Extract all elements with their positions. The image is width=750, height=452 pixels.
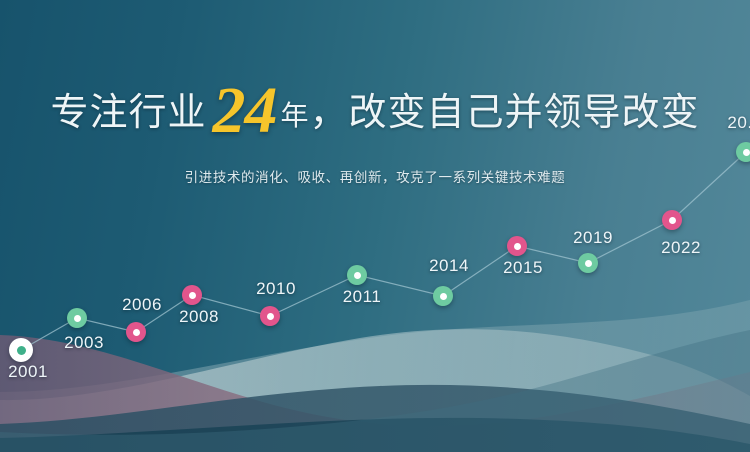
timeline-node-core — [17, 346, 26, 355]
timeline-node-2010[interactable] — [260, 306, 280, 326]
timeline-node-core — [585, 260, 592, 267]
headline: 专注行业24年，改变自己并领导改变 — [50, 78, 699, 132]
timeline-node-core — [440, 293, 447, 300]
timeline-label-2014: 2014 — [429, 256, 469, 276]
timeline-label-2010: 2010 — [256, 279, 296, 299]
timeline-node-core — [74, 315, 81, 322]
subtitle: 引进技术的消化、吸收、再创新，攻克了一系列关键技术难题 — [0, 166, 750, 186]
timeline-label-2006: 2006 — [122, 295, 162, 315]
timeline-label-2003: 2003 — [64, 333, 104, 353]
timeline-label-2001: 2001 — [8, 362, 48, 382]
timeline-node-2022[interactable] — [662, 210, 682, 230]
timeline-node-core — [267, 313, 274, 320]
timeline-node-2003[interactable] — [67, 308, 87, 328]
headline-unit: 年 — [280, 100, 309, 131]
timeline-node-core — [189, 292, 196, 299]
timeline-label-2015: 2015 — [503, 258, 543, 278]
timeline-chart: 2001200320062008201020112014201520192022… — [0, 0, 750, 452]
timeline-label-2008: 2008 — [179, 307, 219, 327]
timeline-node-20[interactable] — [736, 142, 750, 162]
timeline-banner: 专注行业24年，改变自己并领导改变 引进技术的消化、吸收、再创新，攻克了一系列关… — [0, 0, 750, 452]
headline-prefix: 专注行业 — [50, 92, 206, 134]
timeline-node-2014[interactable] — [433, 286, 453, 306]
timeline-node-2006[interactable] — [126, 322, 146, 342]
headline-suffix: ，改变自己并领导改变 — [310, 92, 700, 134]
timeline-node-2001[interactable] — [9, 338, 33, 362]
timeline-node-core — [133, 329, 140, 336]
timeline-node-core — [743, 149, 750, 156]
timeline-node-2008[interactable] — [182, 285, 202, 305]
timeline-node-2019[interactable] — [578, 253, 598, 273]
timeline-node-core — [514, 243, 521, 250]
timeline-node-core — [669, 217, 676, 224]
timeline-label-2019: 2019 — [573, 228, 613, 248]
timeline-label-2022: 2022 — [661, 238, 701, 258]
timeline-node-core — [354, 272, 361, 279]
headline-block: 专注行业24年，改变自己并领导改变 — [0, 78, 750, 132]
timeline-node-2011[interactable] — [347, 265, 367, 285]
timeline-connector-lines — [0, 0, 750, 452]
headline-number: 24 — [212, 85, 276, 136]
timeline-node-2015[interactable] — [507, 236, 527, 256]
timeline-label-2011: 2011 — [343, 287, 382, 307]
